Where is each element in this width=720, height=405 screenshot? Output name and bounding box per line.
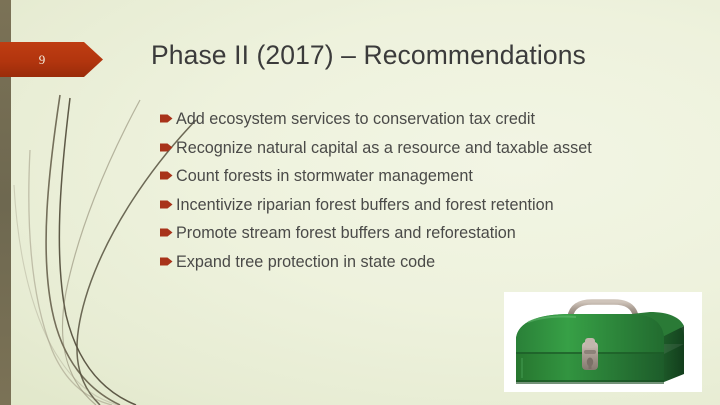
list-item: Add ecosystem services to conservation t… xyxy=(160,105,705,134)
list-item: Expand tree protection in state code xyxy=(160,248,705,277)
flag-bullet-icon xyxy=(160,219,176,248)
list-item-label: Recognize natural capital as a resource … xyxy=(176,134,705,163)
list-item: Recognize natural capital as a resource … xyxy=(160,134,705,163)
flag-bullet-icon xyxy=(160,105,176,134)
toolbox-picture xyxy=(504,292,702,392)
slide-number: 9 xyxy=(0,42,84,77)
list-item: Promote stream forest buffers and refore… xyxy=(160,219,705,248)
presentation-slide: 9 Phase II (2017) – Recommendations Add … xyxy=(0,0,720,405)
toolbox-illustration xyxy=(504,292,702,392)
list-item-label: Expand tree protection in state code xyxy=(176,248,705,277)
flag-bullet-icon xyxy=(160,248,176,277)
slide-title: Phase II (2017) – Recommendations xyxy=(151,40,696,71)
list-item: Count forests in stormwater management xyxy=(160,162,705,191)
list-item-label: Incentivize riparian forest buffers and … xyxy=(176,191,705,220)
recommendations-list: Add ecosystem services to conservation t… xyxy=(160,105,705,277)
flag-bullet-icon xyxy=(160,134,176,163)
slide-number-banner: 9 xyxy=(0,42,104,77)
list-item-label: Promote stream forest buffers and refore… xyxy=(176,219,705,248)
flag-bullet-icon xyxy=(160,191,176,220)
list-item: Incentivize riparian forest buffers and … xyxy=(160,191,705,220)
list-item-label: Add ecosystem services to conservation t… xyxy=(176,105,705,134)
list-item-label: Count forests in stormwater management xyxy=(176,162,705,191)
flag-bullet-icon xyxy=(160,162,176,191)
